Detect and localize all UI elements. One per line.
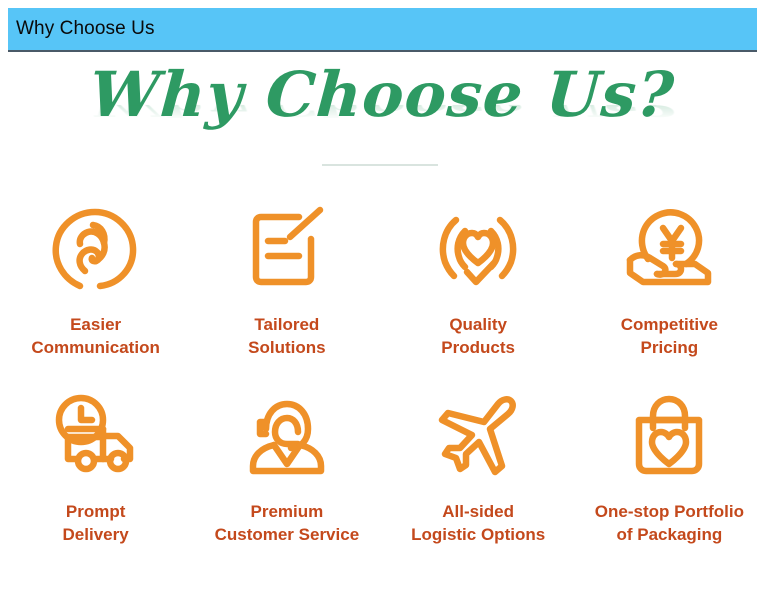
ear-listening-icon (43, 196, 149, 302)
feature-item-all-sided-logistic-options[interactable]: All-sided Logistic Options (383, 385, 574, 546)
feature-label: Quality Products (441, 314, 515, 359)
feature-item-one-stop-portfolio-of-packaging[interactable]: One-stop Portfolio of Packaging (574, 385, 765, 546)
hero-divider (322, 164, 438, 166)
shopping-bag-heart-icon (616, 385, 722, 491)
feature-item-easier-communication[interactable]: Easier Communication (0, 196, 191, 359)
window-titlebar: Why Choose Us (8, 8, 757, 53)
feature-label: One-stop Portfolio of Packaging (595, 501, 744, 546)
feature-label: All-sided Logistic Options (411, 501, 545, 546)
feature-label: Prompt Delivery (63, 501, 129, 546)
heart-soundwave-check-icon (425, 196, 531, 302)
feature-item-tailored-solutions[interactable]: Tailored Solutions (191, 196, 382, 359)
feature-item-competitive-pricing[interactable]: Competitive Pricing (574, 196, 765, 359)
feature-grid: Easier Communication Tailored Solutions (0, 196, 765, 546)
document-pencil-icon (234, 196, 340, 302)
headset-agent-icon (234, 385, 340, 491)
page-title-reflection: Why Choose Us? (0, 105, 765, 120)
titlebar-band: Why Choose Us (8, 8, 757, 52)
feature-label: Tailored Solutions (248, 314, 325, 359)
feature-label: Easier Communication (31, 314, 159, 359)
feature-row-2: Prompt Delivery Premium Customer Service (0, 385, 765, 546)
hand-holding-yen-coin-icon (616, 196, 722, 302)
hero-section: Why Choose Us? Why Choose Us? (0, 58, 765, 173)
delivery-truck-clock-icon (43, 385, 149, 491)
window-title: Why Choose Us (16, 18, 155, 40)
feature-item-prompt-delivery[interactable]: Prompt Delivery (0, 385, 191, 546)
feature-label: Premium Customer Service (215, 501, 360, 546)
airplane-icon (425, 385, 531, 491)
feature-row-1: Easier Communication Tailored Solutions (0, 196, 765, 359)
feature-item-premium-customer-service[interactable]: Premium Customer Service (191, 385, 382, 546)
feature-label: Competitive Pricing (621, 314, 718, 359)
feature-item-quality-products[interactable]: Quality Products (383, 196, 574, 359)
